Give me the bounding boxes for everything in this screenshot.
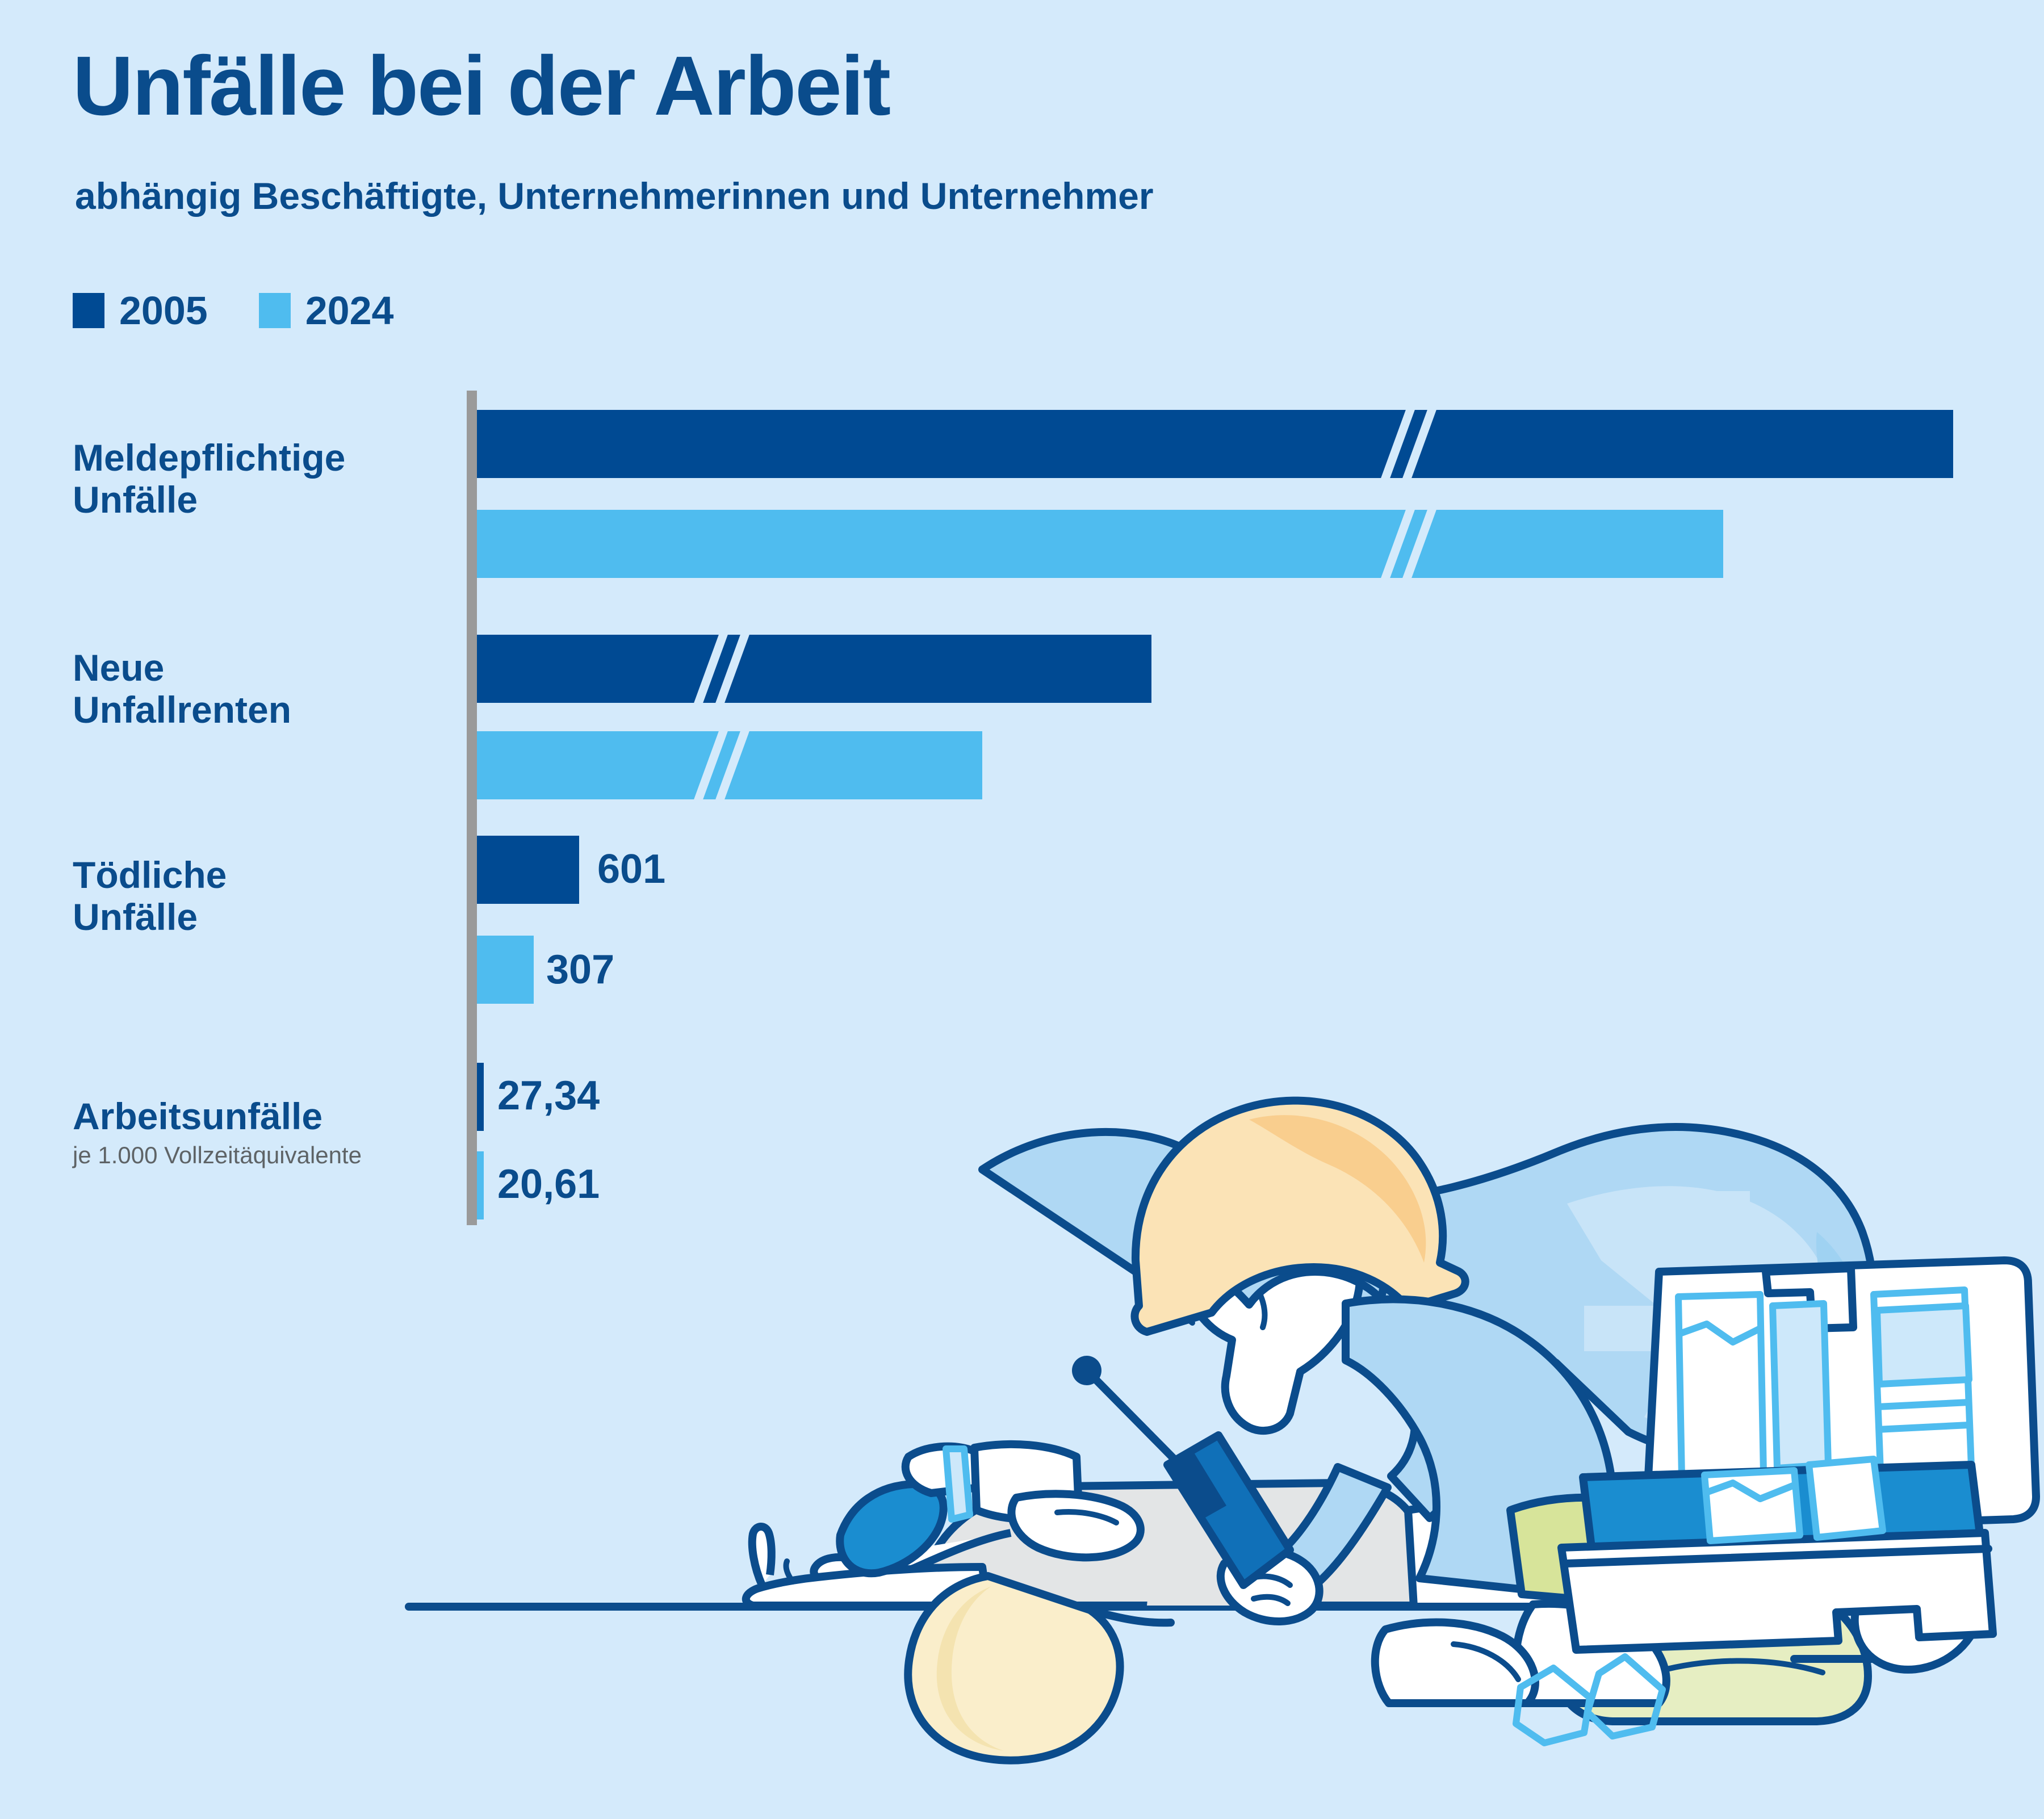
category-line-1: Tödliche bbox=[73, 854, 227, 896]
bar-meldepflichtige-2005 bbox=[477, 410, 1953, 478]
bar-toedliche-2005 bbox=[477, 836, 579, 904]
axis-break-icon bbox=[1385, 397, 1438, 491]
category-line-1: Meldepflichtige bbox=[73, 437, 345, 479]
value-label-toedliche-2005: 601 bbox=[597, 849, 665, 890]
antenna-tip-icon bbox=[1072, 1356, 1101, 1385]
bar-unfallrenten-2024 bbox=[477, 731, 982, 799]
category-label-toedliche-unfaelle: Tödliche Unfälle bbox=[73, 854, 459, 938]
category-line-2: Unfallrenten bbox=[73, 689, 291, 731]
axis-break-icon bbox=[698, 719, 751, 812]
first-aid-illustration: .ln { fill:none; stroke:#0B4C8C; stroke-… bbox=[341, 965, 2044, 1819]
axis-break-icon bbox=[1385, 497, 1438, 590]
category-label-meldepflichtige-unfaelle: Meldepflichtige Unfälle bbox=[73, 437, 459, 521]
first-aid-scene-icon: .ln { fill:none; stroke:#0B4C8C; stroke-… bbox=[341, 965, 2044, 1819]
bar-meldepflichtige-2024 bbox=[477, 510, 1723, 578]
category-line-2: Unfälle bbox=[73, 479, 198, 521]
category-line-1: Neue bbox=[73, 647, 164, 689]
bar-unfallrenten-2005 bbox=[477, 635, 1151, 703]
category-line-1: Arbeitsunfälle bbox=[73, 1095, 322, 1137]
category-line-2: Unfälle bbox=[73, 896, 198, 938]
category-label-neue-unfallrenten: Neue Unfallrenten bbox=[73, 647, 459, 731]
axis-break-icon bbox=[698, 622, 751, 715]
infographic-page: Unfälle bei der Arbeit abhängig Beschäft… bbox=[0, 0, 2044, 1819]
